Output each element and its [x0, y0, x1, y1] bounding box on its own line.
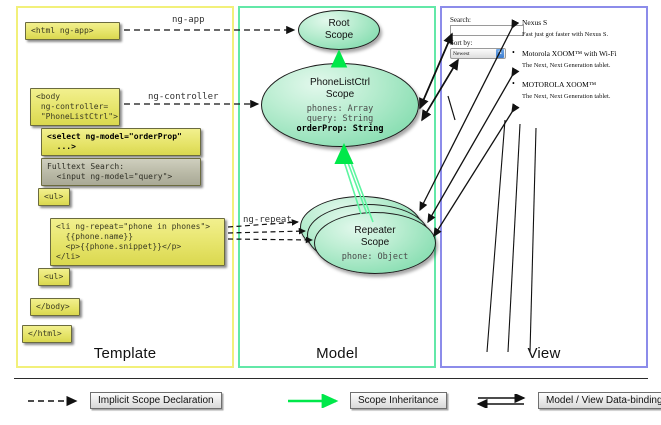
panel-view: View Search: Sort by: Newest ⇅ Nexus S F…	[440, 6, 648, 368]
list-item[interactable]: Motorola XOOM™ with Wi-Fi The Next, Next…	[512, 49, 640, 69]
code-box-html-close[interactable]: </html>	[22, 325, 72, 343]
phonelistctrl-scope-props: phones: Array query: String orderProp: S…	[297, 104, 384, 134]
code-box-html-open[interactable]: <html ng-app>	[25, 22, 120, 40]
view-sort-select[interactable]: Newest ⇅	[450, 48, 506, 59]
legend-item-implicit-scope-declaration: Implicit Scope Declaration	[26, 392, 222, 409]
scope-prop-phone: phone: Object	[342, 252, 409, 262]
list-item[interactable]: MOTOROLA XOOM™ The Next, Next Generation…	[512, 80, 640, 100]
code-box-select[interactable]: <select ng-model="orderProp" ...>	[41, 128, 201, 156]
legend: Implicit Scope Declaration Scope Inherit…	[14, 378, 648, 418]
phone-name: MOTOROLA XOOM™	[512, 80, 640, 89]
view-phone-list: Nexus S Fast just got faster with Nexus …	[512, 18, 640, 111]
code-box-body-close[interactable]: </body>	[30, 298, 80, 316]
repeater-scope-title-1: Repeater	[354, 225, 395, 237]
root-scope-ellipse[interactable]: Root Scope	[298, 10, 380, 50]
connector-label-ng-app: ng-app	[172, 15, 205, 25]
code-box-fulltext-search[interactable]: Fulltext Search: <input ng-model="query"…	[41, 158, 201, 186]
view-sort-selected-value: Newest	[453, 51, 470, 57]
root-scope-title-2: Scope	[325, 30, 353, 42]
panel-template-label: Template	[18, 345, 232, 362]
legend-label-scope-inheritance: Scope Inheritance	[350, 392, 447, 409]
scope-prop-phones: phones: Array	[297, 104, 384, 114]
connector-label-ng-controller: ng-controller	[148, 92, 218, 102]
legend-divider	[14, 378, 648, 379]
phone-snippet: The Next, Next Generation tablet.	[512, 62, 640, 69]
scope-prop-query: query: String	[297, 114, 384, 124]
repeater-scope-title-2: Scope	[361, 237, 389, 249]
dashed-arrow-icon	[26, 394, 84, 408]
panel-model: Model	[238, 6, 436, 368]
code-box-ul-open[interactable]: <ul>	[38, 188, 70, 206]
phone-snippet: Fast just got faster with Nexus S.	[512, 31, 640, 38]
repeater-scope-props: phone: Object	[342, 252, 409, 262]
chevron-updown-icon: ⇅	[496, 49, 504, 58]
code-box-body-open[interactable]: <body ng-controller= "PhoneListCtrl">	[30, 88, 120, 126]
root-scope-title-1: Root	[328, 18, 349, 30]
code-box-li-repeat[interactable]: <li ng-repeat="phone in phones"> {{phone…	[50, 218, 225, 266]
legend-label-implicit-scope-declaration: Implicit Scope Declaration	[90, 392, 222, 409]
repeater-scope-ellipse[interactable]: Repeater Scope phone: Object	[314, 212, 436, 274]
solid-arrow-icon	[286, 394, 344, 408]
phone-name: Nexus S	[512, 18, 640, 27]
view-app-preview: Search: Sort by: Newest ⇅ Nexus S Fast j…	[450, 16, 642, 346]
phone-name: Motorola XOOM™ with Wi-Fi	[512, 49, 640, 58]
phonelistctrl-scope-title-2: Scope	[326, 89, 354, 101]
panel-view-label: View	[442, 345, 646, 362]
code-box-ul-close[interactable]: <ul>	[38, 268, 70, 286]
double-arrow-icon	[474, 394, 532, 408]
phonelistctrl-scope-title-1: PhoneListCtrl	[310, 77, 370, 89]
panel-model-label: Model	[240, 345, 434, 362]
legend-item-model-view-data-binding: Model / View Data-binding	[474, 392, 661, 409]
legend-item-scope-inheritance: Scope Inheritance	[286, 392, 447, 409]
list-item[interactable]: Nexus S Fast just got faster with Nexus …	[512, 18, 640, 38]
scope-prop-orderprop: orderProp: String	[297, 124, 384, 134]
phone-snippet: The Next, Next Generation tablet.	[512, 93, 640, 100]
diagram-canvas: Template Model View Search: Sort by: New…	[0, 0, 661, 425]
phonelistctrl-scope-ellipse[interactable]: PhoneListCtrl Scope phones: Array query:…	[261, 63, 419, 147]
connector-label-ng-repeat: ng-repeat	[243, 215, 292, 225]
legend-label-model-view-data-binding: Model / View Data-binding	[538, 392, 661, 409]
